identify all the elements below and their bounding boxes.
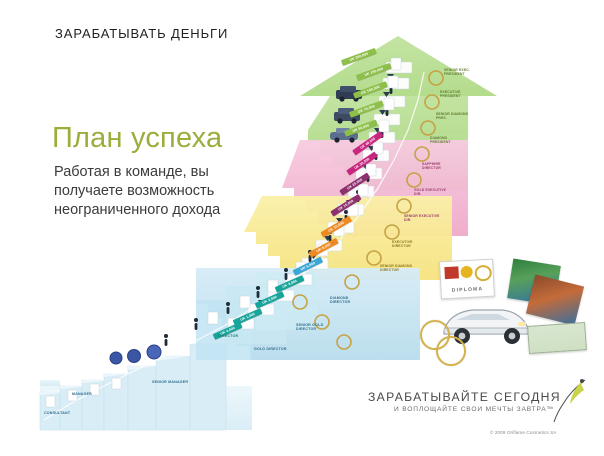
- rank-diamond-director: DIAMOND DIRECTOR: [330, 296, 364, 305]
- rank-senior-manager: SENIOR MANAGER: [152, 380, 188, 384]
- band-label-exec-dir: EXECUTIVE DIRECTOR: [392, 240, 428, 248]
- band-label-sr-diamond-dir: SENIOR DIAMOND DIRECTOR: [380, 264, 416, 272]
- copyright-text: © 2009 Oriflame Cosmetics SA: [490, 430, 556, 435]
- rank-director: DIRECTOR: [218, 334, 238, 338]
- gold-ring-2: [436, 336, 466, 366]
- band-label-sr-exec-pres: SENIOR EXEC. PRESIDENT: [444, 68, 480, 76]
- rank-gold-director: GOLD DIRECTOR: [254, 347, 287, 351]
- slide-canvas: ЗАРАБАТЫВАТЬ ДЕНЬГИ План успеха Работая …: [0, 0, 604, 456]
- band-label-sapphire-dir: SAPPHIRE DIRECTOR: [422, 162, 460, 170]
- band-label-sr-diamond-pres: SENIOR DIAMOND PRES.: [436, 112, 472, 120]
- footer-lockup: ЗАРАБАТЫВАЙТЕ СЕГОДНЯ И ВОПЛОЩАЙТЕ СВОИ …: [368, 390, 590, 413]
- success-plan-staircase: UK 1,000 UK 2,000 UK 3,000 UK 4,000 UK 6…: [0, 0, 604, 456]
- staircase-svg: [0, 0, 604, 456]
- rank-manager: MANAGER: [72, 392, 92, 396]
- rank-consultant: CONSULTANT: [44, 411, 70, 415]
- rank-senior-gold-director: SENIOR GOLD DIRECTOR: [296, 323, 332, 332]
- rewards-photo-collage: DIPLOMA: [418, 258, 596, 370]
- brand-swoosh-icon: [551, 378, 591, 424]
- band-label-sr-exec-dir: SENIOR EXECUTIVE DIR.: [404, 214, 442, 222]
- diploma-label: DIPLOMA: [441, 286, 493, 295]
- band-label-diamond-pres: DIAMOND PRESIDENT: [430, 136, 466, 144]
- band-label-gold-exec-dir: GOLD EXECUTIVE DIR.: [414, 188, 452, 196]
- travel-photo-2: [526, 275, 584, 326]
- diploma-photo: DIPLOMA: [439, 259, 495, 300]
- cash-photo: [527, 322, 587, 354]
- band-label-exec-pres: EXECUTIVE PRESIDENT: [440, 90, 476, 98]
